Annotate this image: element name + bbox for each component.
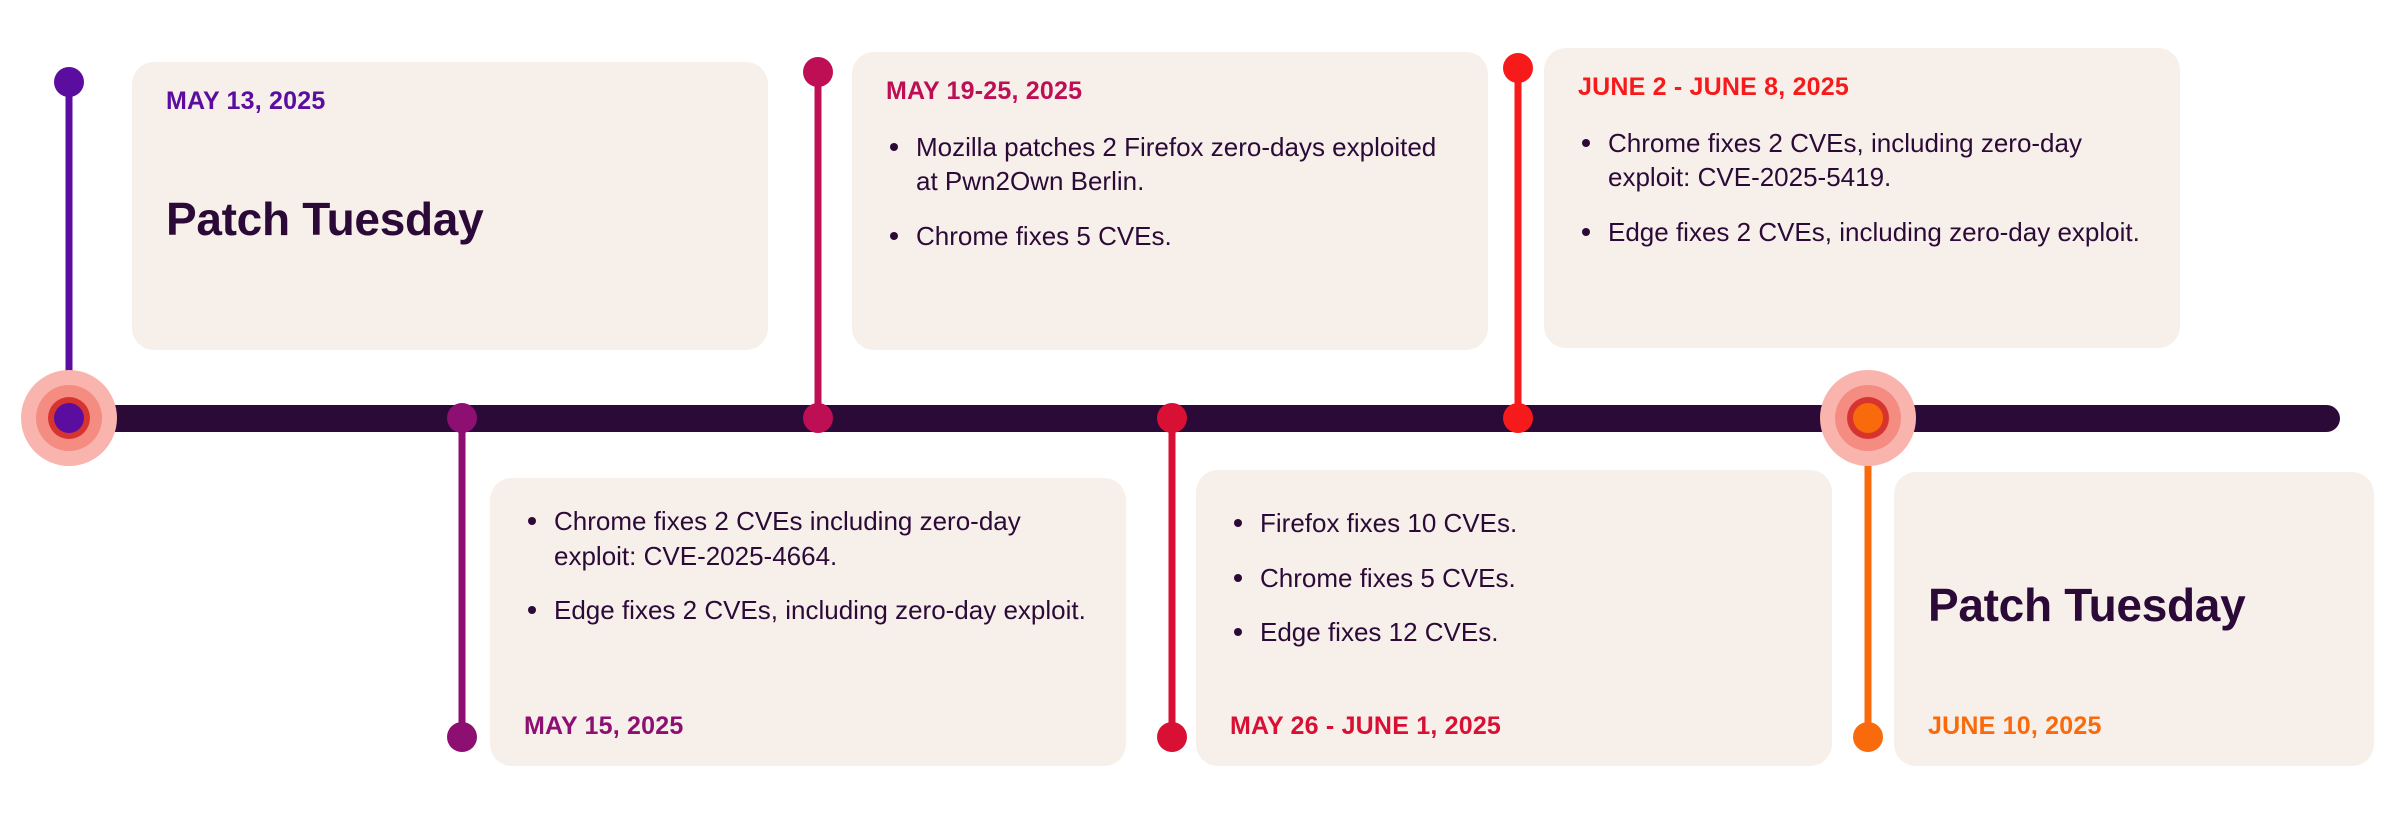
list-item: Chrome fixes 2 CVEs, including zero-day … — [1578, 126, 2146, 195]
bullet-text: Mozilla patches 2 Firefox zero-days expl… — [916, 132, 1436, 197]
axis-dot-june-10[interactable] — [1853, 403, 1883, 433]
bullet-text: Chrome fixes 2 CVEs including zero-day e… — [554, 506, 1021, 571]
event-card-june-10[interactable]: Patch Tuesday JUNE 10, 2025 — [1894, 472, 2374, 766]
bullet-dot-icon — [1234, 574, 1242, 582]
stem-june-10 — [1865, 412, 1872, 737]
end-dot-may-15 — [447, 722, 477, 752]
event-date-may-13: MAY 13, 2025 — [166, 88, 734, 116]
bullet-text: Edge fixes 2 CVEs, including zero-day ex… — [1608, 217, 2140, 247]
event-bullets-may-19-25: Mozilla patches 2 Firefox zero-days expl… — [886, 130, 1454, 254]
list-item: Mozilla patches 2 Firefox zero-days expl… — [886, 130, 1454, 199]
bullet-dot-icon — [528, 517, 536, 525]
timeline-axis-bar — [62, 405, 2340, 432]
end-dot-may-13 — [54, 67, 84, 97]
bullet-dot-icon — [1582, 139, 1590, 147]
list-item: Edge fixes 2 CVEs, including zero-day ex… — [524, 593, 1092, 628]
event-date-may-15: MAY 15, 2025 — [524, 713, 1092, 741]
stem-may-13 — [66, 82, 73, 427]
list-item: Chrome fixes 5 CVEs. — [886, 219, 1454, 254]
event-bullets-may-15: Chrome fixes 2 CVEs including zero-day e… — [524, 504, 1092, 628]
end-dot-may-26-june-1 — [1157, 722, 1187, 752]
axis-dot-june-2-8[interactable] — [1503, 403, 1533, 433]
bullet-dot-icon — [1234, 519, 1242, 527]
bullet-text: Chrome fixes 5 CVEs. — [916, 221, 1172, 251]
event-date-may-26-june-1: MAY 26 - JUNE 1, 2025 — [1230, 713, 1798, 741]
bullet-dot-icon — [1234, 628, 1242, 636]
list-item: Edge fixes 2 CVEs, including zero-day ex… — [1578, 215, 2146, 250]
event-card-may-15[interactable]: Chrome fixes 2 CVEs including zero-day e… — [490, 478, 1126, 766]
event-date-may-19-25: MAY 19-25, 2025 — [886, 78, 1454, 106]
event-headline-may-13: Patch Tuesday — [166, 194, 734, 245]
bullet-text: Edge fixes 2 CVEs, including zero-day ex… — [554, 595, 1086, 625]
stem-may-15 — [459, 412, 466, 737]
event-headline-june-10: Patch Tuesday — [1928, 580, 2340, 631]
stem-may-19-25 — [815, 72, 822, 427]
event-date-june-2-8: JUNE 2 - JUNE 8, 2025 — [1578, 74, 2146, 102]
list-item: Edge fixes 12 CVEs. — [1230, 615, 1798, 650]
bullet-dot-icon — [890, 143, 898, 151]
list-item: Chrome fixes 2 CVEs including zero-day e… — [524, 504, 1092, 573]
axis-dot-may-19-25[interactable] — [803, 403, 833, 433]
bullet-dot-icon — [1582, 228, 1590, 236]
stem-june-2-8 — [1515, 68, 1522, 427]
event-card-may-19-25[interactable]: MAY 19-25, 2025 Mozilla patches 2 Firefo… — [852, 52, 1488, 350]
stem-may-26-june-1 — [1169, 412, 1176, 737]
event-card-may-26-june-1[interactable]: Firefox fixes 10 CVEs. Chrome fixes 5 CV… — [1196, 470, 1832, 766]
axis-dot-may-15[interactable] — [447, 403, 477, 433]
end-dot-june-10 — [1853, 722, 1883, 752]
event-bullets-may-26-june-1: Firefox fixes 10 CVEs. Chrome fixes 5 CV… — [1230, 506, 1798, 650]
list-item: Firefox fixes 10 CVEs. — [1230, 506, 1798, 541]
end-dot-may-19-25 — [803, 57, 833, 87]
timeline-infographic: MAY 13, 2025 Patch Tuesday Chrome fixes … — [0, 0, 2400, 828]
bullet-text: Edge fixes 12 CVEs. — [1260, 617, 1498, 647]
event-date-june-10: JUNE 10, 2025 — [1928, 713, 2340, 741]
bullet-dot-icon — [890, 232, 898, 240]
event-bullets-june-2-8: Chrome fixes 2 CVEs, including zero-day … — [1578, 126, 2146, 250]
bullet-text: Firefox fixes 10 CVEs. — [1260, 508, 1517, 538]
axis-dot-may-26-june-1[interactable] — [1157, 403, 1187, 433]
bullet-text: Chrome fixes 5 CVEs. — [1260, 563, 1516, 593]
axis-dot-may-13[interactable] — [54, 403, 84, 433]
event-card-may-13[interactable]: MAY 13, 2025 Patch Tuesday — [132, 62, 768, 350]
bullet-text: Chrome fixes 2 CVEs, including zero-day … — [1608, 128, 2082, 193]
list-item: Chrome fixes 5 CVEs. — [1230, 561, 1798, 596]
event-card-june-2-8[interactable]: JUNE 2 - JUNE 8, 2025 Chrome fixes 2 CVE… — [1544, 48, 2180, 348]
end-dot-june-2-8 — [1503, 53, 1533, 83]
bullet-dot-icon — [528, 606, 536, 614]
